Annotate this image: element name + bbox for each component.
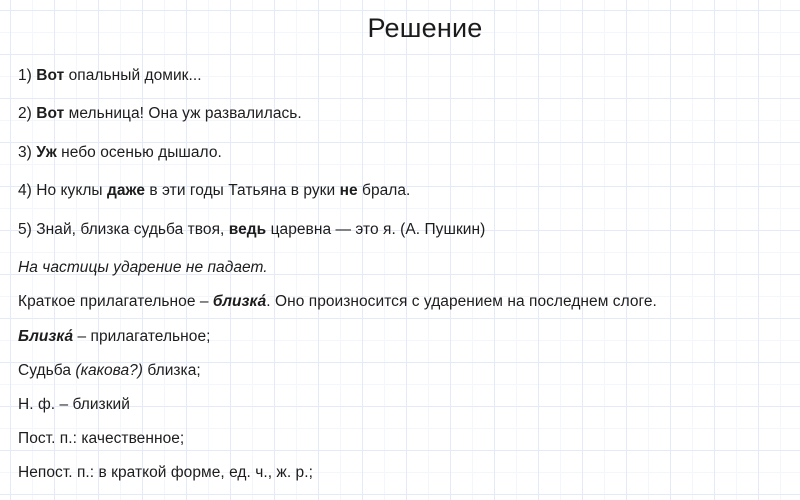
- quote-rest-5: царевна — это я. (А. Пушкин): [266, 221, 485, 238]
- page-title-text: Решение: [368, 12, 483, 44]
- analysis-item-4: Пост. п.: качественное;: [18, 429, 184, 449]
- analysis-note: На частицы ударение не падает.: [18, 258, 268, 278]
- analysis-item-1-word: Близка́: [18, 328, 73, 345]
- quote-number-5: 5): [18, 221, 32, 238]
- quote-prefix-5: Знай, близка судьба твоя,: [32, 221, 229, 238]
- quote-number-3: 3): [18, 144, 32, 161]
- analysis-item-2: Судьба (какова?) близка;: [18, 361, 201, 381]
- analysis-item-1-tail: – прилагательное;: [73, 328, 210, 345]
- analysis-item-3: Н. ф. – близкий: [18, 395, 130, 415]
- worksheet-page: Решение 1) Вот опальный домик... 2) Вот …: [0, 0, 800, 500]
- quote-rest-1: опальный домик...: [64, 67, 201, 84]
- quote-middle-4: в эти годы Татьяна в руки: [145, 182, 340, 199]
- quote-number-1: 1): [18, 67, 32, 84]
- quote-bold-word-4b: не: [340, 182, 358, 199]
- quote-bold-word-2: Вот: [36, 105, 64, 122]
- quote-bold-word-5: ведь: [229, 221, 267, 238]
- quote-number-2: 2): [18, 105, 32, 122]
- analysis-note-text: На частицы ударение не падает.: [18, 259, 268, 276]
- quote-line-4: 4) Но куклы даже в эти годы Татьяна в ру…: [18, 181, 410, 201]
- analysis-item-2-question: (какова?): [75, 362, 143, 379]
- quote-prefix-4: Но куклы: [32, 182, 107, 199]
- quote-number-4: 4): [18, 182, 32, 199]
- quote-line-5: 5) Знай, близка судьба твоя, ведь царевн…: [18, 220, 485, 240]
- analysis-short-adjective: Краткое прилагательное – близка́. Оно пр…: [18, 292, 657, 312]
- page-title: Решение: [0, 12, 800, 44]
- short-adj-word: близка́: [213, 293, 266, 310]
- quote-bold-word-1: Вот: [36, 67, 64, 84]
- quote-line-3: 3) Уж небо осенью дышало.: [18, 143, 222, 163]
- short-adj-tail: . Оно произносится с ударением на послед…: [266, 293, 657, 310]
- quote-rest-3: небо осенью дышало.: [57, 144, 222, 161]
- analysis-item-2-lead: Судьба: [18, 362, 75, 379]
- quote-bold-word-3: Уж: [36, 144, 57, 161]
- quote-rest-4: брала.: [358, 182, 411, 199]
- quote-rest-2: мельница! Она уж развалилась.: [64, 105, 302, 122]
- quote-line-2: 2) Вот мельница! Она уж развалилась.: [18, 104, 302, 124]
- quote-line-1: 1) Вот опальный домик...: [18, 66, 202, 86]
- analysis-item-5: Непост. п.: в краткой форме, ед. ч., ж. …: [18, 463, 313, 483]
- quote-bold-word-4a: даже: [107, 182, 145, 199]
- analysis-item-1: Близка́ – прилагательное;: [18, 327, 210, 347]
- short-adj-lead: Краткое прилагательное –: [18, 293, 213, 310]
- analysis-item-2-tail: близка;: [143, 362, 201, 379]
